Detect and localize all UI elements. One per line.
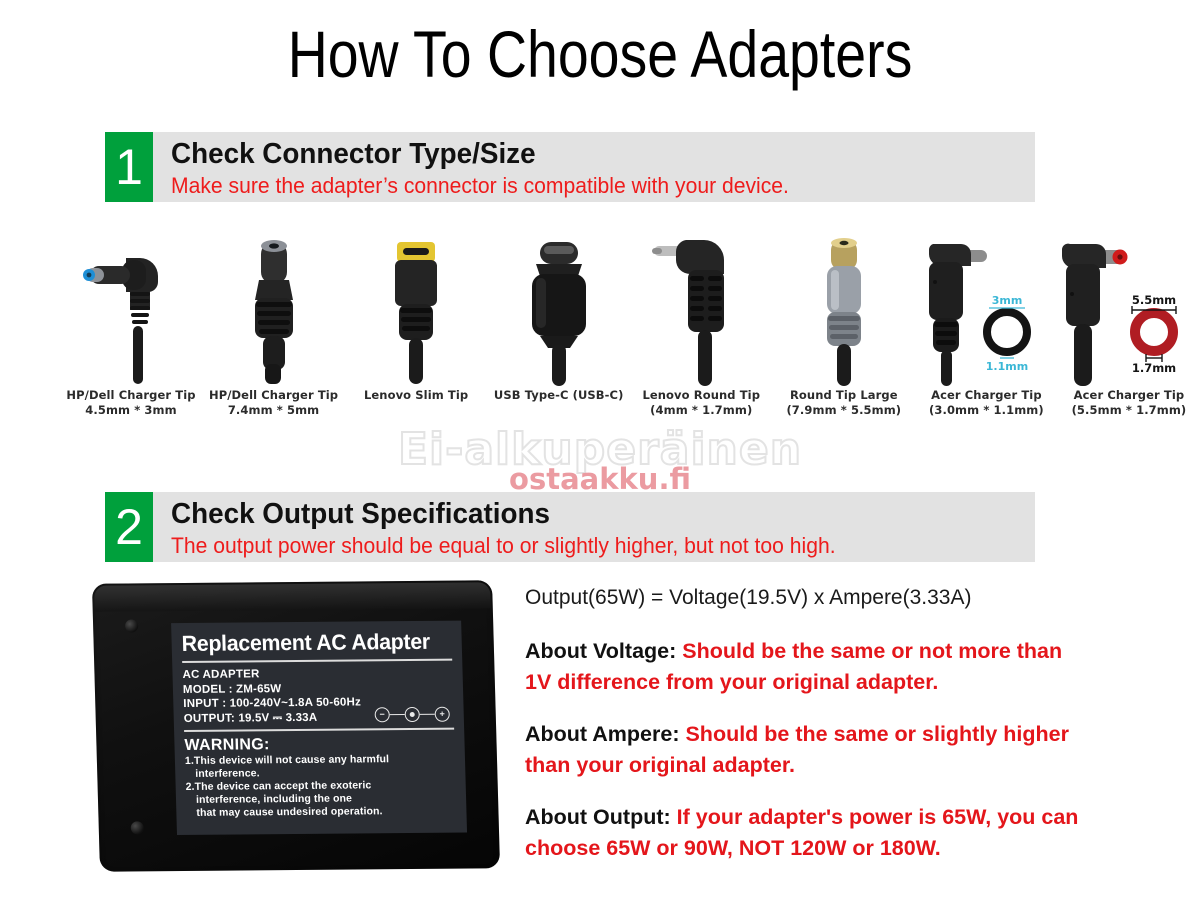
- warning-lines: 1.This device will not cause any harmful…: [185, 753, 457, 820]
- connector-label: HP/Dell Charger Tip 7.4mm * 5mm: [209, 388, 338, 418]
- output-formula: Output(65W) = Voltage(19.5V) x Ampere(3.…: [525, 584, 1090, 612]
- step-1-subheading: Make sure the adapter’s connector is com…: [171, 173, 1000, 199]
- connector-label: HP/Dell Charger Tip 4.5mm * 3mm: [66, 388, 195, 418]
- spec-item-output: About Output: If your adapter's power is…: [525, 802, 1090, 864]
- connector-size: (7.9mm * 5.5mm): [786, 403, 901, 418]
- round-tip-large-gray-icon: [773, 236, 915, 386]
- connector-item-acer-5-5mm: 5.5mm 1.7mm Acer Charger Tip (5.5mm * 1.…: [1058, 236, 1200, 441]
- step-2-number-badge: 2: [105, 492, 153, 562]
- spec-item-voltage: About Voltage: Should be the same or not…: [525, 636, 1090, 698]
- page-title: How To Choose Adapters: [96, 18, 1104, 90]
- adapter-spec-block: AC ADAPTER MODEL : ZM-65W INPUT : 100-24…: [182, 666, 454, 726]
- screw-icon: [125, 619, 138, 632]
- connector-size: (5.5mm * 1.7mm): [1072, 403, 1187, 418]
- connector-name: HP/Dell Charger Tip: [66, 388, 195, 402]
- connector-label: Lenovo Slim Tip: [364, 388, 468, 403]
- connector-item-round-tip-large: Round Tip Large (7.9mm * 5.5mm): [773, 236, 915, 441]
- step-2-subheading: The output power should be equal to or s…: [171, 533, 1000, 559]
- callout-ring-5-5mm: 5.5mm 1.7mm: [1132, 293, 1176, 375]
- spec-key: About Ampere:: [525, 722, 679, 746]
- connector-item-usb-c: USB Type-C (USB-C): [488, 236, 630, 441]
- divider: [182, 659, 452, 663]
- hp-blue-right-angle-barrel-icon: [60, 236, 202, 386]
- polarity-negative-icon: −: [375, 707, 390, 722]
- spec-item-ampere: About Ampere: Should be the same or slig…: [525, 719, 1090, 781]
- svg-text:1.1mm: 1.1mm: [986, 360, 1028, 373]
- watermark-domain: ostaakku.fi: [509, 462, 691, 496]
- polarity-wire: [420, 713, 435, 715]
- acer-small-tip-icon: 3mm 1.1mm: [915, 236, 1057, 386]
- connector-item-lenovo-slim: Lenovo Slim Tip: [345, 236, 487, 441]
- connector-name: Round Tip Large: [790, 388, 898, 402]
- acer-red-tip-icon: 5.5mm 1.7mm: [1058, 236, 1200, 386]
- polarity-wire: [390, 714, 405, 716]
- connector-size: (3.0mm * 1.1mm): [929, 403, 1044, 418]
- step-1-number-badge: 1: [105, 132, 153, 202]
- connector-label: Acer Charger Tip (5.5mm * 1.7mm): [1072, 388, 1187, 418]
- polarity-diagram-icon: − +: [375, 707, 450, 723]
- connector-item-hp-dell-4-5mm: HP/Dell Charger Tip 4.5mm * 3mm: [60, 236, 202, 441]
- step-2-heading: Check Output Specifications: [171, 499, 1000, 530]
- connector-size: 7.4mm * 5mm: [209, 403, 338, 418]
- connector-item-hp-dell-7-4mm: HP/Dell Charger Tip 7.4mm * 5mm: [203, 236, 345, 441]
- adapter-output: OUTPUT: 19.5V ⎓ 3.33A: [184, 710, 362, 726]
- adapter-input: INPUT : 100-240V~1.8A 50-60Hz: [183, 695, 361, 711]
- connector-name: Lenovo Slim Tip: [364, 388, 468, 402]
- warning-title: WARNING:: [184, 735, 455, 755]
- adapter-brand-line: Replacement AC Adapter: [181, 629, 444, 657]
- polarity-center-icon: [405, 707, 420, 722]
- step-1-header: 1 Check Connector Type/Size Make sure th…: [105, 132, 1035, 202]
- connector-item-acer-3-0mm: 3mm 1.1mm Acer Charger Tip (3.0mm * 1.1m…: [915, 236, 1057, 441]
- adapter-type: AC ADAPTER: [182, 666, 360, 682]
- connector-label: Round Tip Large (7.9mm * 5.5mm): [786, 388, 901, 418]
- step-2-header: 2 Check Output Specifications The output…: [105, 492, 1035, 562]
- polarity-positive-icon: +: [435, 707, 450, 722]
- lenovo-round-right-angle-icon: [630, 236, 772, 386]
- divider: [184, 728, 454, 732]
- hp-dell-large-barrel-icon: [203, 236, 345, 386]
- step-2-bar: Check Output Specifications The output p…: [153, 492, 1035, 562]
- spec-key: About Output:: [525, 805, 671, 829]
- connector-item-lenovo-round: Lenovo Round Tip (4mm * 1.7mm): [630, 236, 772, 441]
- svg-text:3mm: 3mm: [992, 294, 1023, 307]
- connector-label: Acer Charger Tip (3.0mm * 1.1mm): [929, 388, 1044, 418]
- spec-key: About Voltage:: [525, 639, 676, 663]
- connector-gallery: HP/Dell Charger Tip 4.5mm * 3mm: [60, 236, 1200, 441]
- connector-label: Lenovo Round Tip (4mm * 1.7mm): [642, 388, 760, 418]
- svg-text:5.5mm: 5.5mm: [1132, 293, 1176, 307]
- infographic-page: How To Choose Adapters 1 Check Connector…: [0, 0, 1200, 900]
- connector-size: 4.5mm * 3mm: [66, 403, 195, 418]
- lenovo-slim-rectangular-tip-icon: [345, 236, 487, 386]
- connector-label: USB Type-C (USB-C): [494, 388, 624, 403]
- connector-name: Acer Charger Tip: [1074, 388, 1185, 402]
- connector-name: USB Type-C (USB-C): [494, 388, 624, 402]
- connector-name: HP/Dell Charger Tip: [209, 388, 338, 402]
- ac-adapter-illustration: Replacement AC Adapter AC ADAPTER MODEL …: [88, 572, 508, 892]
- connector-name: Lenovo Round Tip: [642, 388, 760, 402]
- warning-line: that may cause undesired operation.: [186, 805, 456, 820]
- adapter-spec-text: AC ADAPTER MODEL : ZM-65W INPUT : 100-24…: [182, 666, 361, 726]
- step-1-bar: Check Connector Type/Size Make sure the …: [153, 132, 1035, 202]
- adapter-model: MODEL : ZM-65W: [183, 681, 361, 697]
- svg-text:1.7mm: 1.7mm: [1132, 361, 1176, 375]
- connector-size: (4mm * 1.7mm): [642, 403, 760, 418]
- usb-type-c-icon: [488, 236, 630, 386]
- step-1-heading: Check Connector Type/Size: [171, 139, 1000, 170]
- output-spec-text: Output(65W) = Voltage(19.5V) x Ampere(3.…: [525, 584, 1090, 885]
- callout-ring-3mm: 3mm 1.1mm: [986, 294, 1028, 373]
- adapter-spec-label: Replacement AC Adapter AC ADAPTER MODEL …: [171, 621, 467, 835]
- adapter-body: Replacement AC Adapter AC ADAPTER MODEL …: [92, 580, 500, 871]
- screw-icon: [131, 821, 144, 834]
- connector-name: Acer Charger Tip: [931, 388, 1042, 402]
